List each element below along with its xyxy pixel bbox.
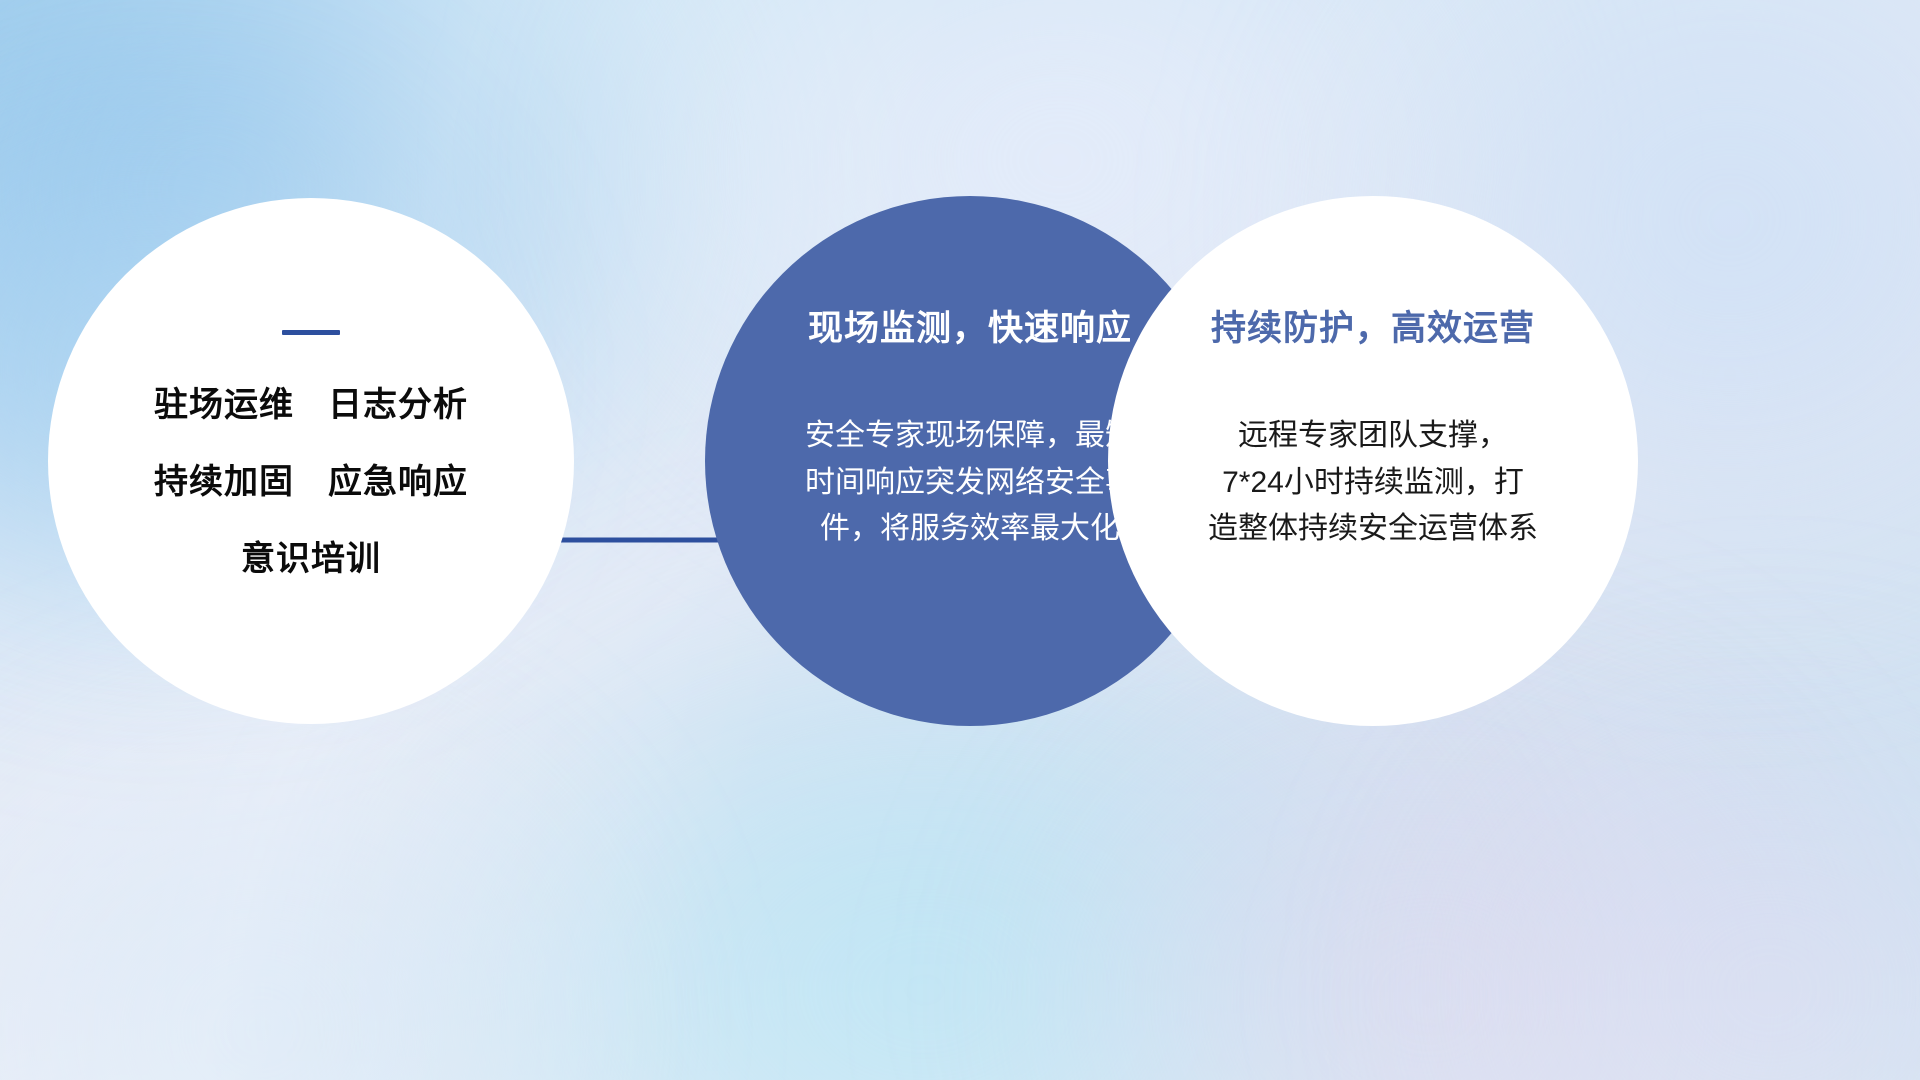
capability-tag[interactable]: 日志分析 (328, 377, 468, 426)
capability-tag-list: 驻场运维 日志分析 持续加固 应急响应 意识培训 (154, 377, 468, 580)
divider-rule (282, 330, 340, 335)
capability-circle-right[interactable]: 持续防护，高效运营 远程专家团队支撑，7*24小时持续监测，打造整体持续安全运营… (1108, 196, 1638, 726)
center-circle-heading: 现场监测，快速响应 (808, 300, 1132, 351)
right-circle-body: 远程专家团队支撑，7*24小时持续监测，打造整体持续安全运营体系 (1208, 413, 1538, 553)
right-circle-heading: 持续防护，高效运营 (1211, 300, 1535, 351)
slide-canvas: 驻场运维 日志分析 持续加固 应急响应 意识培训 现场监测，快速响应 安全专家现… (0, 0, 1920, 1080)
capability-tag-row: 持续加固 应急响应 (154, 454, 468, 503)
capability-tag[interactable]: 持续加固 (154, 454, 294, 503)
center-circle-body: 安全专家现场保障，最短时间响应突发网络安全事件，将服务效率最大化 (805, 413, 1135, 553)
capability-tag[interactable]: 意识培训 (241, 531, 381, 580)
capability-tag[interactable]: 应急响应 (328, 454, 468, 503)
capability-tag-row: 意识培训 (241, 531, 381, 580)
capability-circle-left[interactable]: 驻场运维 日志分析 持续加固 应急响应 意识培训 (48, 198, 574, 724)
capability-tag-row: 驻场运维 日志分析 (154, 377, 468, 426)
capability-tag[interactable]: 驻场运维 (154, 377, 294, 426)
